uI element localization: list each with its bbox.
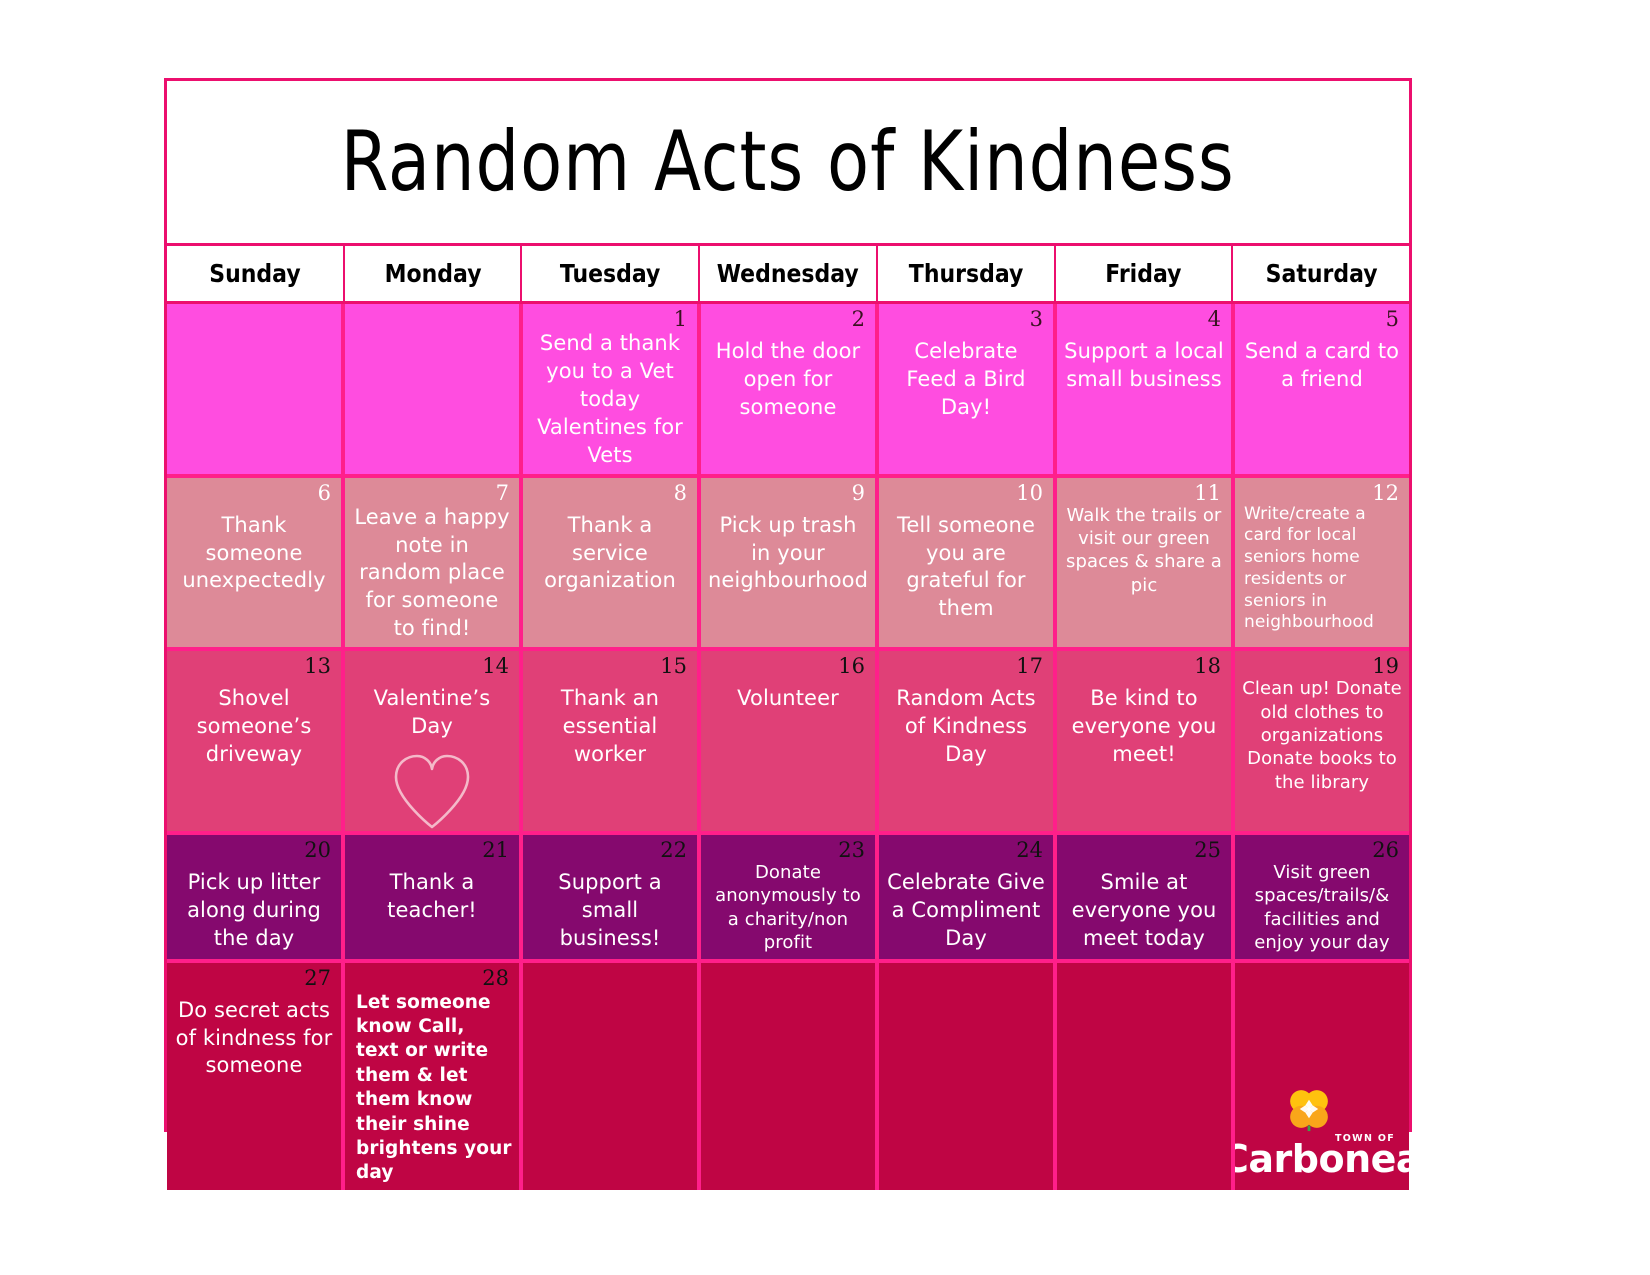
day-number: 3 [1030, 308, 1043, 330]
weekday-label: Thursday [908, 259, 1023, 288]
day-cell-8[interactable]: 8 Thank a service organization [523, 478, 701, 648]
day-activity-text: Volunteer [701, 685, 875, 831]
weekday-label: Saturday [1265, 259, 1377, 288]
weekday-header-tuesday: Tuesday [522, 246, 700, 301]
day-cell-23[interactable]: 23 Donate anonymously to a charity/non p… [701, 835, 879, 959]
day-cell-17[interactable]: 17 Random Acts of Kindness Day [879, 651, 1057, 831]
day-cell-28[interactable]: 28 Let someone know Call, text or write … [345, 963, 523, 1190]
day-cell-18[interactable]: 18 Be kind to everyone you meet! [1057, 651, 1235, 831]
day-cell-26[interactable]: 26 Visit green spaces/trails/& facilitie… [1235, 835, 1409, 959]
day-number: 16 [838, 655, 865, 677]
week-row-4: 20 Pick up litter along during the day 2… [167, 835, 1409, 963]
weekday-header-sunday: Sunday [167, 246, 345, 301]
day-number: 12 [1372, 482, 1399, 504]
day-cell-6[interactable]: 6 Thank someone unexpectedly [167, 478, 345, 648]
day-cell-7[interactable]: 7 Leave a happy note in random place for… [345, 478, 523, 648]
day-activity-text: Leave a happy note in random place for s… [345, 504, 519, 648]
day-number: 8 [674, 482, 687, 504]
day-activity-text: Send a card to a friend [1235, 338, 1409, 474]
heart-icon [345, 753, 519, 831]
day-activity-text [879, 997, 1053, 1190]
day-cell-15[interactable]: 15 Thank an essential worker [523, 651, 701, 831]
day-cell-9[interactable]: 9 Pick up trash in your neighbourhood [701, 478, 879, 648]
day-number: 25 [1194, 839, 1221, 861]
day-cell-12[interactable]: 12 Write/create a card for local seniors… [1235, 478, 1409, 648]
weekday-label: Friday [1105, 259, 1181, 288]
day-number: 1 [674, 308, 687, 330]
calendar-page: Random Acts of Kindness Sunday Monday Tu… [0, 0, 1650, 1275]
day-activity-text: Smile at everyone you meet today [1057, 869, 1231, 959]
day-number: 15 [660, 655, 687, 677]
day-activity-text: Thank an essential worker [523, 685, 697, 831]
day-number: 20 [304, 839, 331, 861]
day-number: 13 [304, 655, 331, 677]
day-cell-11[interactable]: 11 Walk the trails or visit our green sp… [1057, 478, 1235, 648]
day-cell-2[interactable]: 2 Hold the door open for someone [701, 304, 879, 474]
day-number: 7 [496, 482, 509, 504]
day-number: 14 [482, 655, 509, 677]
day-number: 27 [304, 967, 331, 989]
day-activity-text: Be kind to everyone you meet! [1057, 685, 1231, 831]
day-number: 21 [482, 839, 509, 861]
day-number: 18 [1194, 655, 1221, 677]
day-activity-text: Clean up! Donate old clothes to organiza… [1235, 677, 1409, 831]
day-number: 17 [1016, 655, 1043, 677]
day-activity-text: Let someone know Call, text or write the… [345, 991, 519, 1190]
day-activity-text [701, 997, 875, 1190]
day-number: 19 [1372, 655, 1399, 677]
day-cell-19[interactable]: 19 Clean up! Donate old clothes to organ… [1235, 651, 1409, 831]
page-title: Random Acts of Kindness [341, 121, 1235, 204]
day-cell-1[interactable]: 1 Send a thank you to a Vet today Valent… [523, 304, 701, 474]
day-number: 24 [1016, 839, 1043, 861]
day-cell-empty [345, 304, 523, 474]
weekday-header-row: Sunday Monday Tuesday Wednesday Thursday… [167, 246, 1409, 304]
day-number: 22 [660, 839, 687, 861]
day-activity-text: Support a local small business [1057, 338, 1231, 474]
week-row-2: 6 Thank someone unexpectedly 7 Leave a h… [167, 478, 1409, 652]
day-activity-text: Thank a teacher! [345, 869, 519, 959]
day-activity-text: Pick up trash in your neighbourhood [701, 512, 875, 648]
day-activity-text: Celebrate Give a Compliment Day [879, 869, 1053, 959]
weekday-header-friday: Friday [1056, 246, 1234, 301]
day-activity-text [167, 338, 341, 474]
day-activity-text: Write/create a card for local seniors ho… [1235, 504, 1409, 648]
week-row-3: 13 Shovel someone’s driveway 14 Valentin… [167, 651, 1409, 835]
calendar-weeks: 1 Send a thank you to a Vet today Valent… [167, 304, 1409, 1190]
day-cell-27[interactable]: 27 Do secret acts of kindness for someon… [167, 963, 345, 1190]
day-cell-5[interactable]: 5 Send a card to a friend [1235, 304, 1409, 474]
day-activity-text: Thank a service organization [523, 512, 697, 648]
day-cell-25[interactable]: 25 Smile at everyone you meet today [1057, 835, 1235, 959]
day-activity-text: Hold the door open for someone [701, 338, 875, 474]
logo-wordmark: Carbonear [1235, 1140, 1397, 1178]
day-activity-text: Send a thank you to a Vet today Valentin… [523, 330, 697, 474]
weekday-label: Monday [384, 259, 481, 288]
day-number: 9 [852, 482, 865, 504]
carbonear-logo: TOWN OF Carbonear [1235, 1086, 1397, 1178]
day-cell-4[interactable]: 4 Support a local small business [1057, 304, 1235, 474]
day-activity-text: Support a small business! [523, 869, 697, 959]
weekday-header-saturday: Saturday [1233, 246, 1409, 301]
day-number: 23 [838, 839, 865, 861]
day-cell-logo: TOWN OF Carbonear [1235, 963, 1409, 1190]
day-cell-empty [1057, 963, 1235, 1190]
day-number: 4 [1208, 308, 1221, 330]
weekday-header-thursday: Thursday [878, 246, 1056, 301]
day-activity-text [1057, 997, 1231, 1190]
day-activity-text: Donate anonymously to a charity/non prof… [701, 861, 875, 959]
day-activity-text: Thank someone unexpectedly [167, 512, 341, 648]
day-number: 2 [852, 308, 865, 330]
day-cell-20[interactable]: 20 Pick up litter along during the day [167, 835, 345, 959]
day-cell-24[interactable]: 24 Celebrate Give a Compliment Day [879, 835, 1057, 959]
day-cell-21[interactable]: 21 Thank a teacher! [345, 835, 523, 959]
day-activity-text: Celebrate Feed a Bird Day! [879, 338, 1053, 474]
day-number: 26 [1372, 839, 1399, 861]
day-activity-text: Walk the trails or visit our green space… [1057, 504, 1231, 648]
day-cell-22[interactable]: 22 Support a small business! [523, 835, 701, 959]
week-row-5: 27 Do secret acts of kindness for someon… [167, 963, 1409, 1190]
weekday-label: Tuesday [560, 259, 661, 288]
day-activity-text [523, 997, 697, 1190]
calendar-container: Random Acts of Kindness Sunday Monday Tu… [164, 78, 1412, 1132]
weekday-header-wednesday: Wednesday [700, 246, 878, 301]
day-cell-14[interactable]: 14 Valentine’s Day [345, 651, 523, 831]
day-activity-text: Pick up litter along during the day [167, 869, 341, 959]
day-cell-13[interactable]: 13 Shovel someone’s driveway [167, 651, 345, 831]
day-activity-text: Visit green spaces/trails/& facilities a… [1235, 861, 1409, 959]
week-row-1: 1 Send a thank you to a Vet today Valent… [167, 304, 1409, 478]
day-activity-text: Valentine’s Day [345, 685, 519, 745]
day-number: 28 [482, 967, 509, 989]
day-number: 11 [1194, 482, 1221, 504]
day-activity-text: Do secret acts of kindness for someone [167, 997, 341, 1190]
day-cell-16[interactable]: 16 Volunteer [701, 651, 879, 831]
day-activity-text [345, 338, 519, 474]
flower-icon [1286, 1086, 1332, 1132]
day-cell-empty [701, 963, 879, 1190]
day-activity-text: Shovel someone’s driveway [167, 685, 341, 831]
weekday-label: Wednesday [717, 259, 859, 288]
day-activity-text: Random Acts of Kindness Day [879, 685, 1053, 831]
day-cell-empty [523, 963, 701, 1190]
day-cell-10[interactable]: 10 Tell someone you are grateful for the… [879, 478, 1057, 648]
day-cell-empty [879, 963, 1057, 1190]
weekday-header-monday: Monday [345, 246, 523, 301]
day-number: 6 [318, 482, 331, 504]
day-number: 10 [1016, 482, 1043, 504]
title-banner: Random Acts of Kindness [167, 81, 1409, 246]
day-number: 5 [1386, 308, 1399, 330]
day-cell-empty [167, 304, 345, 474]
weekday-label: Sunday [209, 259, 300, 288]
day-cell-3[interactable]: 3 Celebrate Feed a Bird Day! [879, 304, 1057, 474]
day-activity-text: Tell someone you are grateful for them [879, 512, 1053, 648]
